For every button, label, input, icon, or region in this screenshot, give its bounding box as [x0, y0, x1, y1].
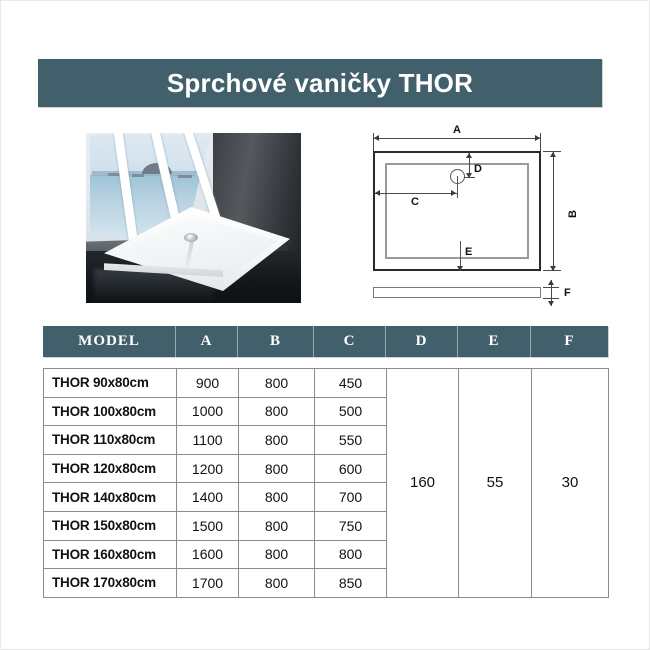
- cell-c: 500: [315, 397, 387, 426]
- dim-arrow-e: [457, 266, 463, 271]
- column-header-b: B: [238, 326, 314, 357]
- cell-b: 800: [239, 569, 315, 598]
- cell-a: 1500: [177, 511, 239, 540]
- column-header-e: E: [458, 326, 531, 357]
- cell-a: 1400: [177, 483, 239, 512]
- cell-model: THOR 150x80cm: [44, 511, 177, 540]
- cell-b: 800: [239, 454, 315, 483]
- cell-model: THOR 90x80cm: [44, 369, 177, 398]
- page-root: Sprchové vaničky THOR A: [0, 0, 650, 650]
- cell-c: 750: [315, 511, 387, 540]
- dim-label-a: A: [453, 125, 461, 136]
- photo-boat: [178, 175, 192, 178]
- column-header-c: C: [314, 326, 386, 357]
- column-header-model: MODEL: [43, 326, 176, 357]
- table-row: THOR 90x80cm 900 800 450 160 55 30: [44, 369, 609, 398]
- cell-a: 1700: [177, 569, 239, 598]
- cell-model: THOR 140x80cm: [44, 483, 177, 512]
- cell-e-merged: 55: [459, 369, 532, 598]
- cell-f-merged: 30: [532, 369, 609, 598]
- dim-line-c: [375, 193, 458, 194]
- cell-b: 800: [239, 369, 315, 398]
- dim-arrow-f-top: [548, 280, 554, 285]
- dim-arrow-b-bottom: [550, 266, 556, 271]
- technical-drawing: A B D C E F: [361, 123, 609, 311]
- cell-a: 900: [177, 369, 239, 398]
- cell-c: 800: [315, 540, 387, 569]
- cell-b: 800: [239, 540, 315, 569]
- cell-model: THOR 120x80cm: [44, 454, 177, 483]
- dim-arrow-b-top: [550, 152, 556, 157]
- cell-model: THOR 110x80cm: [44, 426, 177, 455]
- column-header-f: F: [531, 326, 608, 357]
- cell-a: 1000: [177, 397, 239, 426]
- product-photo: [86, 133, 301, 303]
- cell-model: THOR 160x80cm: [44, 540, 177, 569]
- dim-label-d: D: [474, 164, 482, 175]
- title-banner: Sprchové vaničky THOR: [38, 59, 602, 107]
- cell-b: 800: [239, 511, 315, 540]
- drain-icon: [184, 233, 198, 242]
- drain-crosshair-vertical: [457, 176, 458, 198]
- dim-arrow-d-top: [466, 153, 472, 158]
- dim-arrow-a-left: [374, 135, 379, 141]
- cell-c: 550: [315, 426, 387, 455]
- cell-b: 800: [239, 397, 315, 426]
- cell-model: THOR 100x80cm: [44, 397, 177, 426]
- cell-d-merged: 160: [387, 369, 459, 598]
- dim-label-f: F: [564, 288, 571, 299]
- cell-c: 600: [315, 454, 387, 483]
- cell-model: THOR 170x80cm: [44, 569, 177, 598]
- column-header-d: D: [386, 326, 458, 357]
- dim-label-c: C: [411, 197, 419, 208]
- dim-line-a: [373, 138, 541, 139]
- dim-arrow-f-bottom: [548, 301, 554, 306]
- dim-line-b: [553, 151, 554, 271]
- photo-boat: [132, 174, 144, 177]
- cell-c: 850: [315, 569, 387, 598]
- cell-a: 1600: [177, 540, 239, 569]
- dim-arrow-a-right: [535, 135, 540, 141]
- dim-arrow-c-right: [451, 190, 456, 196]
- dim-arrow-c-left: [375, 190, 380, 196]
- cell-b: 800: [239, 426, 315, 455]
- cell-a: 1100: [177, 426, 239, 455]
- cell-b: 800: [239, 483, 315, 512]
- dim-label-e: E: [465, 247, 472, 258]
- cell-c: 450: [315, 369, 387, 398]
- tray-side-view: [373, 287, 541, 298]
- spec-table-body: THOR 90x80cm 900 800 450 160 55 30 THOR …: [44, 369, 609, 598]
- spec-table: THOR 90x80cm 900 800 450 160 55 30 THOR …: [43, 368, 609, 598]
- dim-extension-a-right: [540, 133, 541, 153]
- dim-label-b: B: [568, 210, 579, 218]
- cell-c: 700: [315, 483, 387, 512]
- spec-table-header: MODEL A B C D E F: [43, 326, 608, 357]
- page-title: Sprchové vaničky THOR: [167, 68, 473, 99]
- cell-a: 1200: [177, 454, 239, 483]
- dim-arrow-d-bottom: [466, 173, 472, 178]
- column-header-a: A: [176, 326, 238, 357]
